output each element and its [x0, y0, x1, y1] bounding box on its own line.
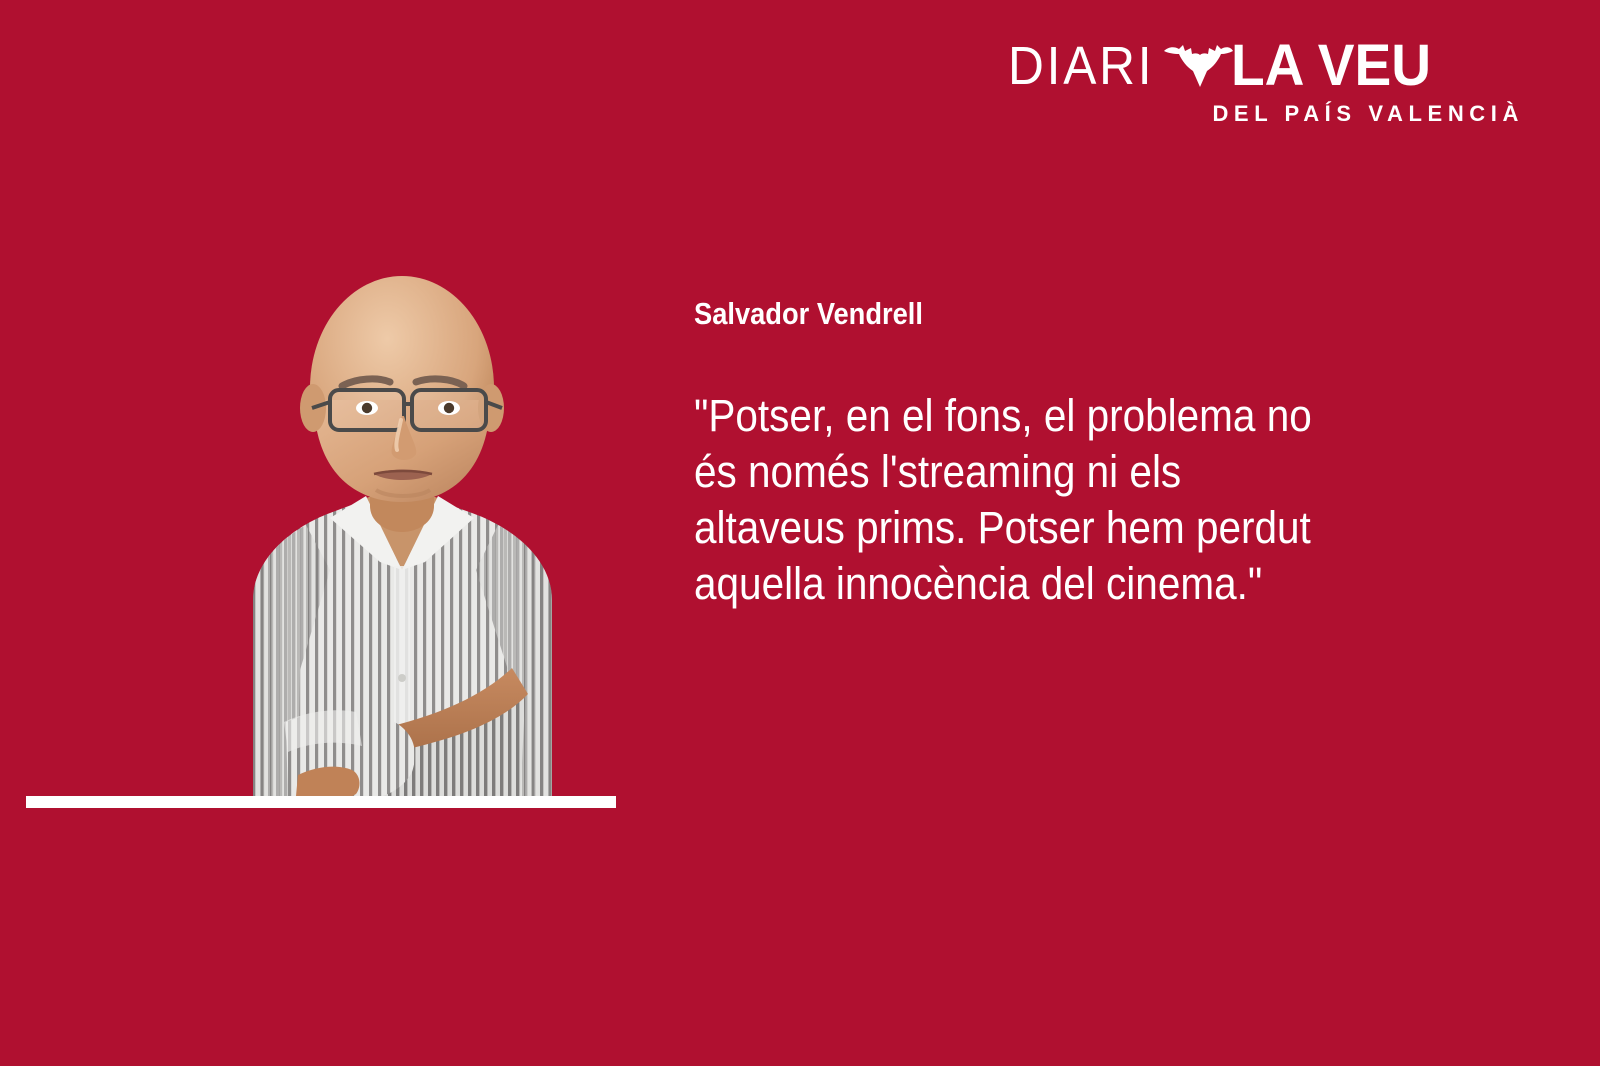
brand-logo-wordmark: DIARI LA VEU	[1008, 36, 1442, 96]
shirt-button	[398, 674, 406, 682]
quote-card-canvas: DIARI LA VEU DEL PAÍS VALENCIÀ	[0, 0, 1600, 1066]
quote-line: aquella innocència del cinema."	[694, 556, 1486, 612]
brand-word-diari: DIARI	[1008, 39, 1154, 93]
brand-logo[interactable]: DIARI LA VEU DEL PAÍS VALENCIÀ	[1008, 36, 1524, 128]
quote-line: "Potser, en el fons, el problema no	[694, 388, 1486, 444]
divider-rule	[26, 796, 616, 808]
quote-line: altaveus prims. Potser hem perdut	[694, 500, 1486, 556]
quote-text: "Potser, en el fons, el problema noés no…	[694, 388, 1486, 612]
brand-tagline: DEL PAÍS VALENCIÀ	[1212, 102, 1524, 126]
speaker-name: Salvador Vendrell	[694, 296, 1389, 332]
bird-icon	[1161, 39, 1235, 93]
quote-text-block: Salvador Vendrell "Potser, en el fons, e…	[694, 296, 1484, 612]
portrait-photo	[180, 270, 620, 805]
quote-line: és només l'streaming ni els	[694, 444, 1486, 500]
brand-word-laveu: LA VEU	[1231, 37, 1431, 95]
